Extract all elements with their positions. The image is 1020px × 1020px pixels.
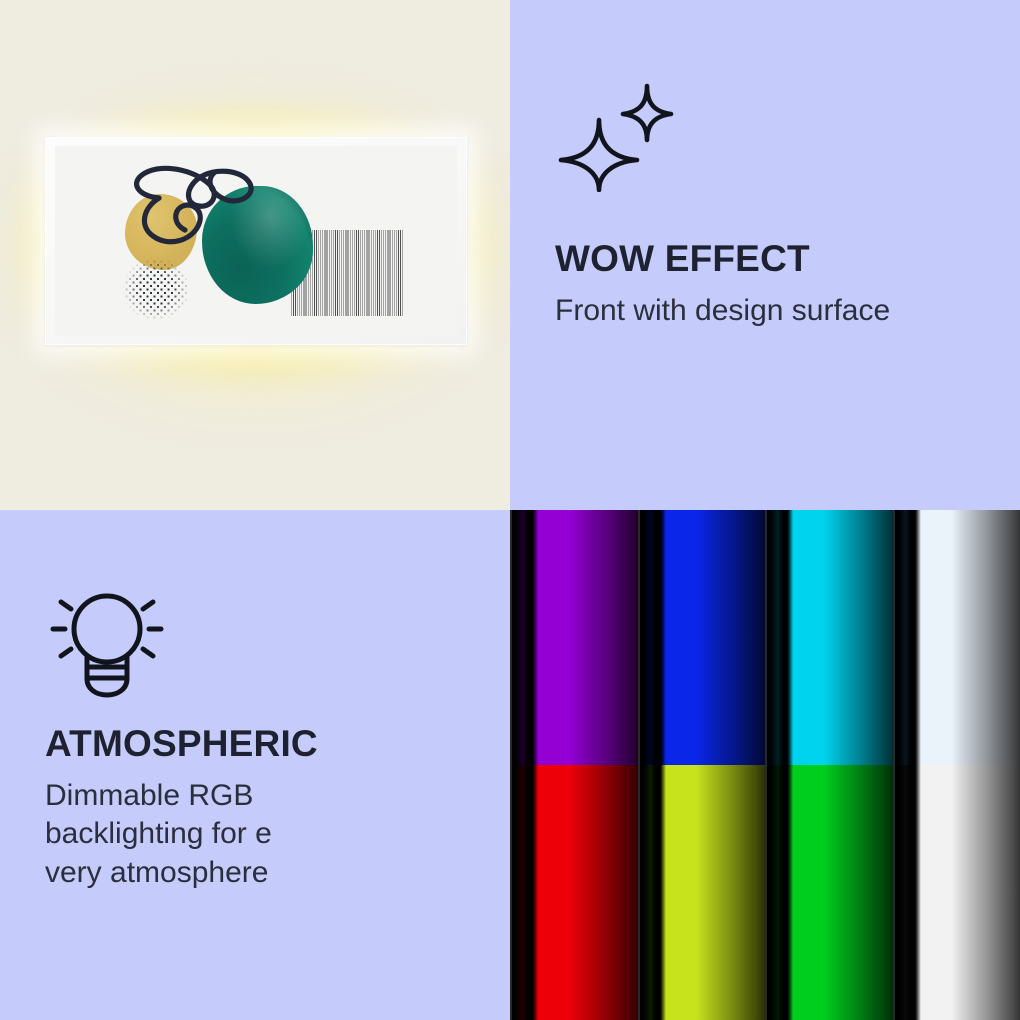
rgb-swatch-grid: [510, 510, 1020, 1020]
black-squiggle-line: [115, 160, 315, 300]
swatch-gradient: [510, 765, 638, 1020]
wow-effect-quadrant: WOW EFFECT Front with design surface: [510, 0, 1020, 510]
lightbulb-icon: [45, 582, 169, 700]
atmospheric-subtitle-line-1: Dimmable RGB: [45, 777, 485, 815]
swatch-seam: [638, 510, 640, 765]
swatch-seam: [510, 510, 512, 765]
swatch-gradient: [893, 510, 1020, 765]
atmospheric-quadrant: ATMOSPHERIC Dimmable RGB backlighting fo…: [0, 510, 510, 1020]
atmospheric-headline: ATMOSPHERIC: [45, 725, 485, 763]
swatch-seam: [765, 765, 767, 1020]
color-swatch-warm-white[interactable]: [893, 765, 1020, 1020]
swatch-gradient: [638, 765, 766, 1020]
swatch-gradient: [510, 510, 638, 765]
product-feature-collage: WOW EFFECT Front with design surface: [0, 0, 1020, 1020]
wow-effect-text-block: WOW EFFECT Front with design surface: [555, 240, 995, 330]
panel-design-surface: [55, 146, 457, 336]
color-swatch-cyan[interactable]: [765, 510, 893, 765]
atmospheric-text-block: ATMOSPHERIC Dimmable RGB backlighting fo…: [45, 725, 485, 892]
swatch-gradient: [765, 510, 893, 765]
color-swatch-purple[interactable]: [510, 510, 638, 765]
swatch-gradient: [765, 765, 893, 1020]
swatch-seam: [893, 765, 895, 1020]
atmospheric-subtitle-line-2: backlighting for e: [45, 815, 485, 853]
color-swatch-lime[interactable]: [638, 765, 766, 1020]
atmospheric-subtitle-line-3: very atmosphere: [45, 854, 485, 892]
color-swatch-blue[interactable]: [638, 510, 766, 765]
wow-effect-subtitle: Front with design surface: [555, 292, 995, 330]
wow-effect-subtitle-line-1: Front with design surface: [555, 292, 995, 330]
swatch-seam: [893, 510, 895, 765]
swatch-seam: [510, 765, 512, 1020]
color-swatch-red[interactable]: [510, 765, 638, 1020]
color-swatch-green[interactable]: [765, 765, 893, 1020]
abstract-artwork: [55, 146, 457, 336]
swatch-seam: [765, 510, 767, 765]
wow-effect-headline: WOW EFFECT: [555, 240, 995, 278]
atmospheric-subtitle: Dimmable RGB backlighting for e very atm…: [45, 777, 485, 892]
wall-panel: [45, 137, 467, 345]
swatch-gradient: [638, 510, 766, 765]
swatch-gradient: [893, 765, 1020, 1020]
sparkle-icon: [555, 80, 685, 192]
product-photo-quadrant: [0, 0, 510, 510]
swatch-seam: [638, 765, 640, 1020]
rgb-color-grid-quadrant: [510, 510, 1020, 1020]
color-swatch-cool-white[interactable]: [893, 510, 1020, 765]
